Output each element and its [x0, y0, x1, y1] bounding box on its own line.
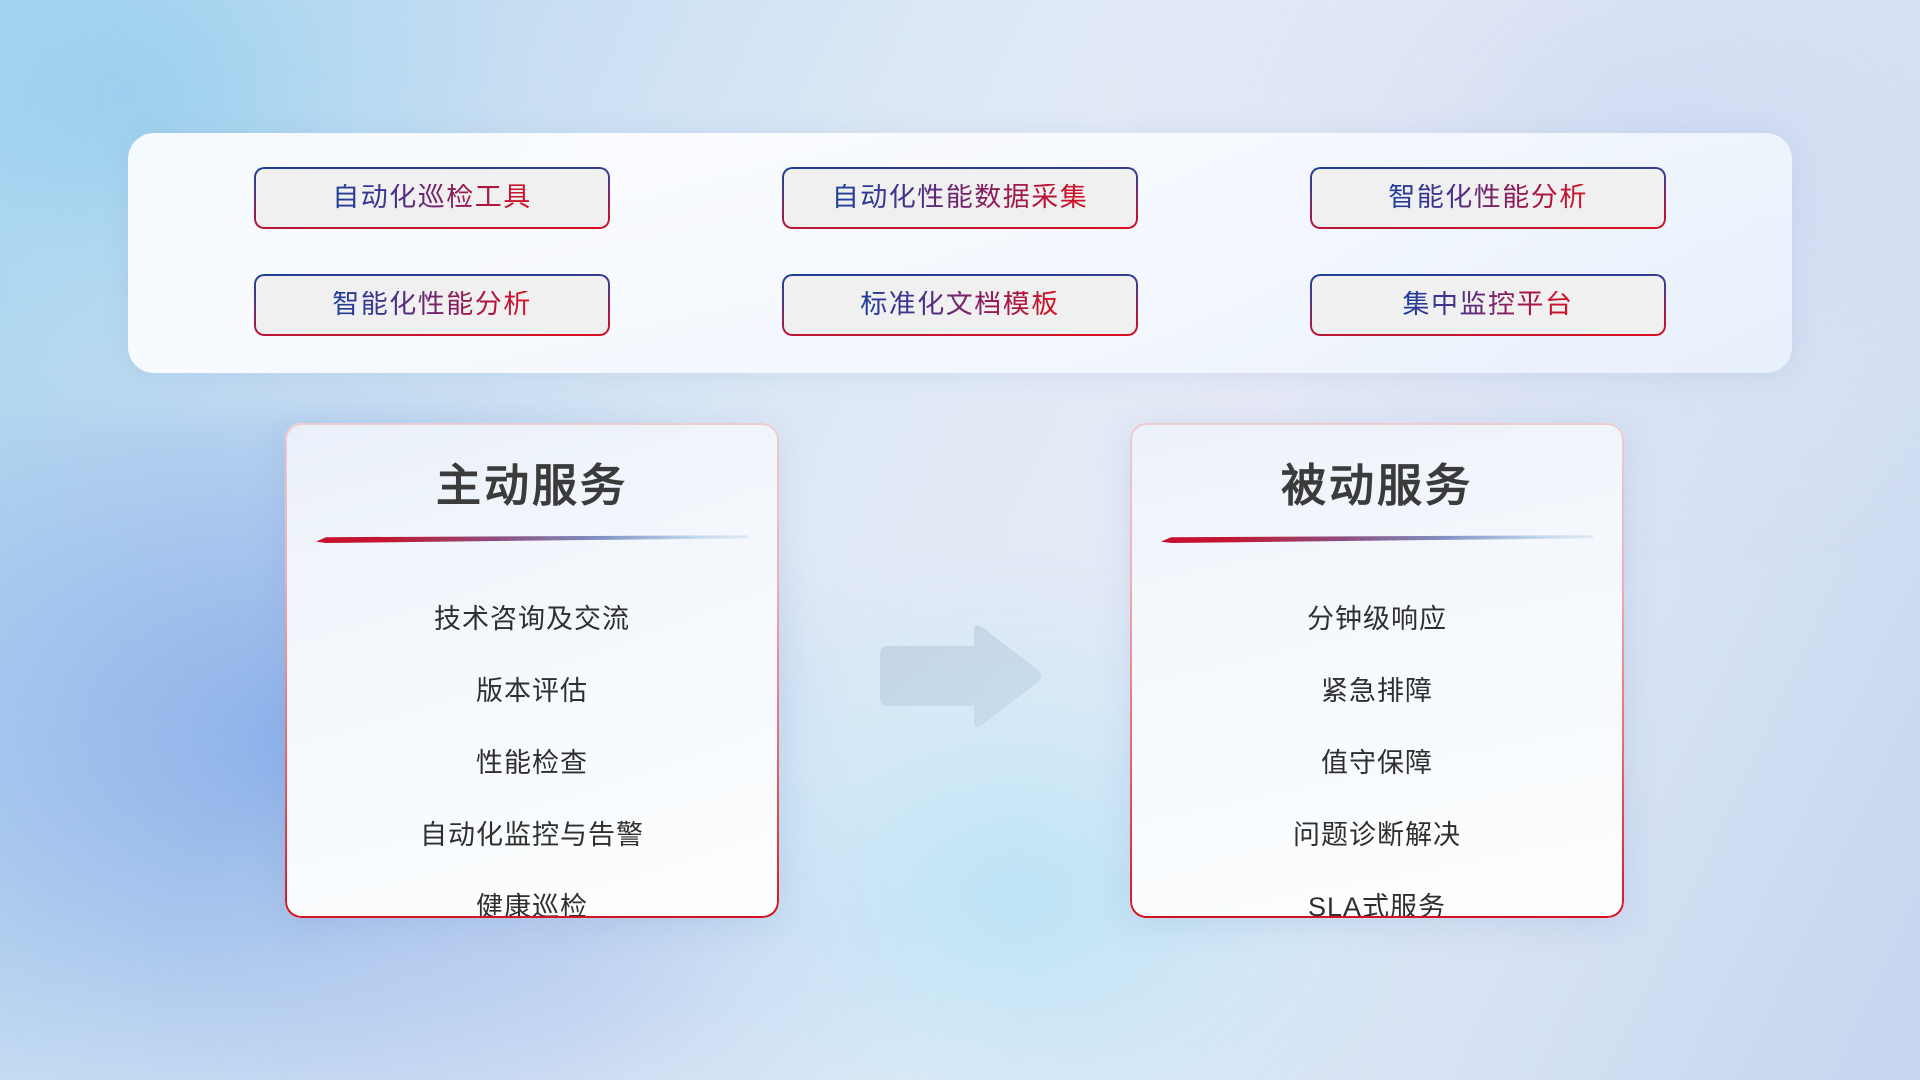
list-item: 技术咨询及交流	[434, 583, 630, 655]
capability-tags-grid: 自动化巡检工具 自动化性能数据采集 智能化性能分析 智能化性能分析 标准化文档模…	[128, 133, 1792, 373]
passive-service-title: 被动服务	[1130, 459, 1624, 513]
capability-tag-label: 标准化文档模板	[860, 291, 1060, 318]
capability-tag-label: 自动化性能数据采集	[832, 184, 1089, 211]
capability-tag-intelligent-performance-analysis-1[interactable]: 智能化性能分析	[1310, 167, 1666, 229]
passive-service-item-list: 分钟级响应 紧急排障 值守保障 问题诊断解决 SLA式服务	[1130, 583, 1624, 918]
list-item: 自动化监控与告警	[420, 799, 644, 871]
active-service-title: 主动服务	[285, 459, 779, 513]
list-item: 问题诊断解决	[1293, 799, 1461, 871]
capability-tag-label: 智能化性能分析	[332, 291, 532, 318]
right-arrow-icon	[876, 622, 1044, 730]
list-item: 值守保障	[1321, 727, 1433, 799]
capability-tag-automated-inspection-tool[interactable]: 自动化巡检工具	[254, 167, 610, 229]
capability-tag-label: 智能化性能分析	[1388, 184, 1588, 211]
list-item: 性能检查	[476, 727, 588, 799]
active-service-divider	[316, 535, 748, 543]
list-item: 版本评估	[476, 655, 588, 727]
list-item: 分钟级响应	[1307, 583, 1447, 655]
list-item: SLA式服务	[1308, 871, 1446, 918]
capability-tags-panel: 自动化巡检工具 自动化性能数据采集 智能化性能分析 智能化性能分析 标准化文档模…	[128, 133, 1792, 373]
active-service-item-list: 技术咨询及交流 版本评估 性能检查 自动化监控与告警 健康巡检	[285, 583, 779, 918]
capability-tag-intelligent-performance-analysis-2[interactable]: 智能化性能分析	[254, 274, 610, 336]
capability-tag-label: 自动化巡检工具	[332, 184, 532, 211]
capability-tag-standardized-doc-template[interactable]: 标准化文档模板	[782, 274, 1138, 336]
passive-service-divider	[1161, 535, 1593, 543]
capability-tag-automated-performance-data-collection[interactable]: 自动化性能数据采集	[782, 167, 1138, 229]
capability-tag-label: 集中监控平台	[1403, 291, 1574, 318]
list-item: 健康巡检	[476, 871, 588, 918]
active-service-card[interactable]: 主动服务 技术咨询及交流 版本评估 性能检查 自动化监控与告警 健康巡检	[285, 423, 779, 918]
capability-tag-centralized-monitoring-platform[interactable]: 集中监控平台	[1310, 274, 1666, 336]
passive-service-card[interactable]: 被动服务 分钟级响应 紧急排障 值守保障 问题诊断解决 SLA式服务	[1130, 423, 1624, 918]
list-item: 紧急排障	[1321, 655, 1433, 727]
